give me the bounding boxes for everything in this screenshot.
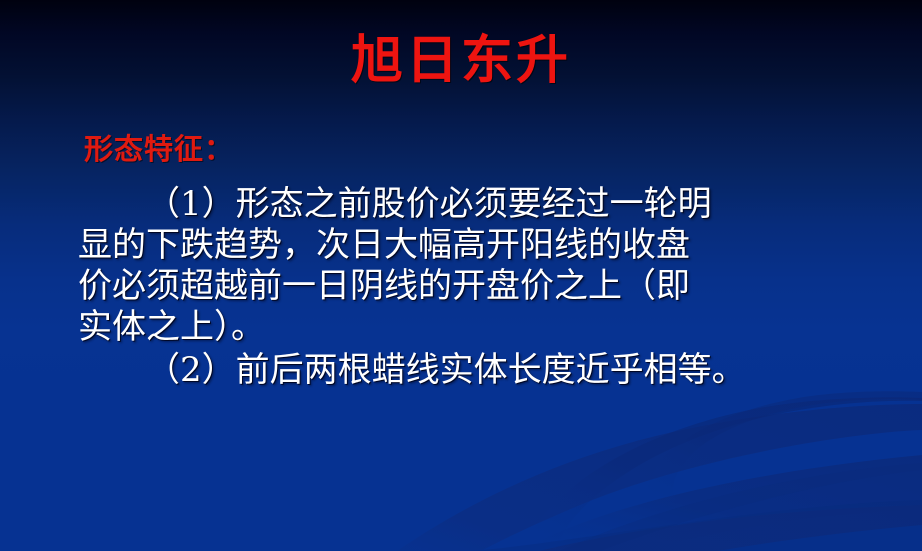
swoosh-curve-hook (528, 397, 922, 551)
swoosh-stripe-diagonal (360, 505, 922, 551)
body-line-1: （1）形态之前股价必须要经过一轮明 (78, 184, 878, 225)
slide-title: 旭日东升 (351, 30, 571, 92)
section-heading: 形态特征： (84, 128, 878, 170)
swoosh-band-lower (520, 455, 922, 551)
body-line-4: 实体之上）。 (78, 307, 878, 348)
body-line-2: 显的下跌趋势，次日大幅高开阳线的收盘 (78, 225, 878, 266)
presentation-slide: 旭日东升 形态特征： （1）形态之前股价必须要经过一轮明 显的下跌趋势，次日大幅… (0, 0, 922, 551)
swoosh-curve-inner (647, 391, 922, 512)
swoosh-band-bottom (470, 500, 922, 551)
body-line-5: （2）前后两根蜡线实体长度近乎相等。 (78, 350, 878, 391)
title-block: 旭日东升 (0, 30, 922, 92)
swoosh-arc-faint (560, 463, 922, 551)
swoosh-curve-large (365, 404, 922, 551)
slide-body: 形态特征： （1）形态之前股价必须要经过一轮明 显的下跌趋势，次日大幅高开阳线的… (78, 128, 878, 391)
body-line-3: 价必须超越前一日阴线的开盘价之上（即 (78, 266, 878, 307)
